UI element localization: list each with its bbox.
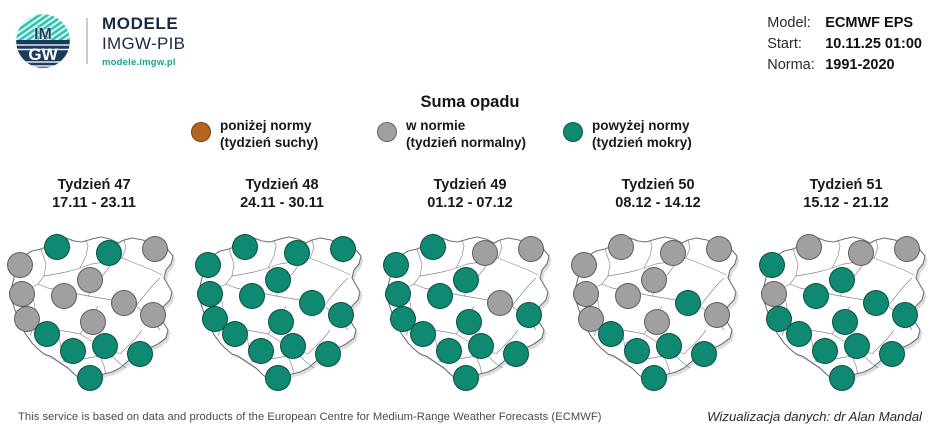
region-dot-lubuskie[interactable] — [385, 281, 411, 307]
region-dot-lubuskie[interactable] — [197, 281, 223, 307]
legend-item-above: powyżej normy(tydzień mokry) — [563, 118, 749, 151]
legend-label-secondary: (tydzień suchy) — [220, 135, 318, 152]
region-dot-lubuskie[interactable] — [9, 281, 35, 307]
region-dot-opolskie[interactable] — [410, 321, 436, 347]
region-dot-swietokrzyskie[interactable] — [92, 333, 118, 359]
region-dot-swietokrzyskie[interactable] — [280, 333, 306, 359]
meta-row-norm: Norma: 1991-2020 — [767, 55, 922, 76]
region-dot-malopolskie[interactable] — [453, 365, 479, 391]
region-dot-wielkopolskie[interactable] — [427, 283, 453, 309]
region-dot-swietokrzyskie[interactable] — [468, 333, 494, 359]
region-dot-lubelskie[interactable] — [892, 302, 918, 328]
region-dot-mazowieckie[interactable] — [299, 290, 325, 316]
region-dot-podkarpackie[interactable] — [315, 341, 341, 367]
poland-map — [564, 218, 752, 400]
region-dot-mazowieckie[interactable] — [863, 290, 889, 316]
region-dot-layer — [752, 218, 940, 400]
region-dot-malopolskie[interactable] — [829, 365, 855, 391]
meta-row-model: Model: ECMWF EPS — [767, 13, 922, 34]
meta-value-norm: 1991-2020 — [825, 55, 894, 76]
panel-week-label: Tydzień 47 — [0, 176, 188, 195]
region-dot-opolskie[interactable] — [598, 321, 624, 347]
forecast-infographic: IM GW MODELE IMGW-PIB modele.imgw.pl Mod… — [0, 0, 940, 436]
poland-map — [752, 218, 940, 400]
legend-swatch-above — [563, 122, 583, 142]
legend-item-normal: w normie(tydzień normalny) — [377, 118, 563, 151]
region-dot-kujawsko-pomorskie[interactable] — [265, 267, 291, 293]
region-dot-slaskie[interactable] — [812, 338, 838, 364]
brand-line-2: IMGW-PIB — [102, 34, 185, 54]
region-dot-warminsko-mazurskie[interactable] — [848, 240, 874, 266]
poland-map — [0, 218, 188, 400]
svg-text:GW: GW — [28, 45, 58, 64]
region-dot-podlaskie[interactable] — [518, 236, 544, 262]
panel-date-range: 01.12 - 07.12 — [376, 195, 564, 213]
meta-row-start: Start: 10.11.25 01:00 — [767, 34, 922, 55]
meta-label-norm: Norma: — [767, 55, 825, 76]
region-dot-pomorskie[interactable] — [608, 234, 634, 260]
region-dot-lodzkie[interactable] — [644, 309, 670, 335]
region-dot-wielkopolskie[interactable] — [615, 283, 641, 309]
brand-website[interactable]: modele.imgw.pl — [102, 57, 185, 68]
region-dot-podlaskie[interactable] — [706, 236, 732, 262]
region-dot-layer — [188, 218, 376, 400]
map-panel-week-5: Tydzień 5115.12 - 21.12 — [752, 176, 940, 402]
brand-text: MODELE IMGW-PIB modele.imgw.pl — [102, 14, 185, 67]
region-dot-lubelskie[interactable] — [328, 302, 354, 328]
region-dot-lubuskie[interactable] — [761, 281, 787, 307]
model-metadata: Model: ECMWF EPS Start: 10.11.25 01:00 N… — [767, 13, 922, 76]
meta-label-model: Model: — [767, 13, 825, 34]
panel-date-range: 24.11 - 30.11 — [188, 195, 376, 213]
region-dot-kujawsko-pomorskie[interactable] — [829, 267, 855, 293]
map-panel-week-2: Tydzień 4824.11 - 30.11 — [188, 176, 376, 402]
region-dot-swietokrzyskie[interactable] — [844, 333, 870, 359]
region-dot-slaskie[interactable] — [248, 338, 274, 364]
panel-date-range: 17.11 - 23.11 — [0, 195, 188, 213]
legend-label-secondary: (tydzień normalny) — [406, 135, 526, 152]
region-dot-layer — [0, 218, 188, 400]
region-dot-zachodniopomorskie[interactable] — [383, 252, 409, 278]
legend-label-above: powyżej normy(tydzień mokry) — [592, 118, 692, 151]
imgw-circle-logo-icon: IM GW — [14, 12, 72, 70]
region-dot-warminsko-mazurskie[interactable] — [472, 240, 498, 266]
region-dot-lubelskie[interactable] — [516, 302, 542, 328]
region-dot-mazowieckie[interactable] — [487, 290, 513, 316]
logo-divider — [86, 18, 88, 64]
footer: This service is based on data and produc… — [0, 402, 940, 436]
region-dot-slaskie[interactable] — [624, 338, 650, 364]
region-dot-kujawsko-pomorskie[interactable] — [453, 267, 479, 293]
region-dot-opolskie[interactable] — [34, 321, 60, 347]
region-dot-kujawsko-pomorskie[interactable] — [77, 267, 103, 293]
region-dot-wielkopolskie[interactable] — [803, 283, 829, 309]
header: IM GW MODELE IMGW-PIB modele.imgw.pl Mod… — [0, 0, 940, 88]
legend-label-secondary: (tydzień mokry) — [592, 135, 692, 152]
meta-label-start: Start: — [767, 34, 825, 55]
region-dot-lubuskie[interactable] — [573, 281, 599, 307]
map-panel-week-1: Tydzień 4717.11 - 23.11 — [0, 176, 188, 402]
panel-date-range: 15.12 - 21.12 — [752, 195, 940, 213]
region-dot-zachodniopomorskie[interactable] — [759, 252, 785, 278]
region-dot-slaskie[interactable] — [60, 338, 86, 364]
panel-week-label: Tydzień 48 — [188, 176, 376, 195]
region-dot-malopolskie[interactable] — [641, 365, 667, 391]
region-dot-podlaskie[interactable] — [330, 236, 356, 262]
svg-text:IM: IM — [34, 26, 52, 43]
legend-swatch-below — [191, 122, 211, 142]
legend-label-primary: poniżej normy — [220, 118, 318, 135]
region-dot-podkarpackie[interactable] — [127, 341, 153, 367]
panel-date-range: 08.12 - 14.12 — [564, 195, 752, 213]
region-dot-opolskie[interactable] — [222, 321, 248, 347]
region-dot-lodzkie[interactable] — [80, 309, 106, 335]
brand-line-1: MODELE — [102, 14, 185, 34]
region-dot-swietokrzyskie[interactable] — [656, 333, 682, 359]
region-dot-lubelskie[interactable] — [140, 302, 166, 328]
footer-author: Wizualizacja danych: dr Alan Mandal — [707, 409, 922, 424]
region-dot-lodzkie[interactable] — [268, 309, 294, 335]
panel-week-label: Tydzień 51 — [752, 176, 940, 195]
region-dot-kujawsko-pomorskie[interactable] — [641, 267, 667, 293]
region-dot-mazowieckie[interactable] — [675, 290, 701, 316]
region-dot-wielkopolskie[interactable] — [51, 283, 77, 309]
brand-logo[interactable]: IM GW MODELE IMGW-PIB modele.imgw.pl — [14, 12, 185, 70]
legend-swatch-normal — [377, 122, 397, 142]
region-dot-lodzkie[interactable] — [832, 309, 858, 335]
legend-label-below: poniżej normy(tydzień suchy) — [220, 118, 318, 151]
region-dot-warminsko-mazurskie[interactable] — [660, 240, 686, 266]
region-dot-opolskie[interactable] — [786, 321, 812, 347]
legend: poniżej normy(tydzień suchy)w normie(tyd… — [0, 118, 940, 151]
map-panel-week-3: Tydzień 4901.12 - 07.12 — [376, 176, 564, 402]
region-dot-podkarpackie[interactable] — [503, 341, 529, 367]
region-dot-zachodniopomorskie[interactable] — [571, 252, 597, 278]
region-dot-zachodniopomorskie[interactable] — [7, 252, 33, 278]
meta-value-start: 10.11.25 01:00 — [825, 34, 922, 55]
region-dot-podkarpackie[interactable] — [691, 341, 717, 367]
region-dot-wielkopolskie[interactable] — [239, 283, 265, 309]
region-dot-zachodniopomorskie[interactable] — [195, 252, 221, 278]
footer-attribution: This service is based on data and produc… — [18, 411, 601, 423]
panel-week-label: Tydzień 49 — [376, 176, 564, 195]
region-dot-lubelskie[interactable] — [704, 302, 730, 328]
region-dot-podlaskie[interactable] — [894, 236, 920, 262]
region-dot-layer — [376, 218, 564, 400]
legend-label-primary: w normie — [406, 118, 526, 135]
region-dot-malopolskie[interactable] — [265, 365, 291, 391]
panel-week-label: Tydzień 50 — [564, 176, 752, 195]
region-dot-pomorskie[interactable] — [420, 234, 446, 260]
map-panel-week-4: Tydzień 5008.12 - 14.12 — [564, 176, 752, 402]
region-dot-malopolskie[interactable] — [77, 365, 103, 391]
region-dot-mazowieckie[interactable] — [111, 290, 137, 316]
region-dot-warminsko-mazurskie[interactable] — [284, 240, 310, 266]
region-dot-warminsko-mazurskie[interactable] — [96, 240, 122, 266]
legend-label-normal: w normie(tydzień normalny) — [406, 118, 526, 151]
region-dot-podkarpackie[interactable] — [879, 341, 905, 367]
map-panel-row: Tydzień 4717.11 - 23.11Tydzień 4824.11 -… — [0, 176, 940, 402]
region-dot-lodzkie[interactable] — [456, 309, 482, 335]
region-dot-pomorskie[interactable] — [796, 234, 822, 260]
region-dot-layer — [564, 218, 752, 400]
region-dot-pomorskie[interactable] — [44, 234, 70, 260]
region-dot-podlaskie[interactable] — [142, 236, 168, 262]
region-dot-pomorskie[interactable] — [232, 234, 258, 260]
poland-map — [376, 218, 564, 400]
legend-label-primary: powyżej normy — [592, 118, 692, 135]
poland-map — [188, 218, 376, 400]
region-dot-slaskie[interactable] — [436, 338, 462, 364]
meta-value-model: ECMWF EPS — [825, 13, 913, 34]
legend-title: Suma opadu — [0, 93, 940, 112]
legend-item-below: poniżej normy(tydzień suchy) — [191, 118, 377, 151]
